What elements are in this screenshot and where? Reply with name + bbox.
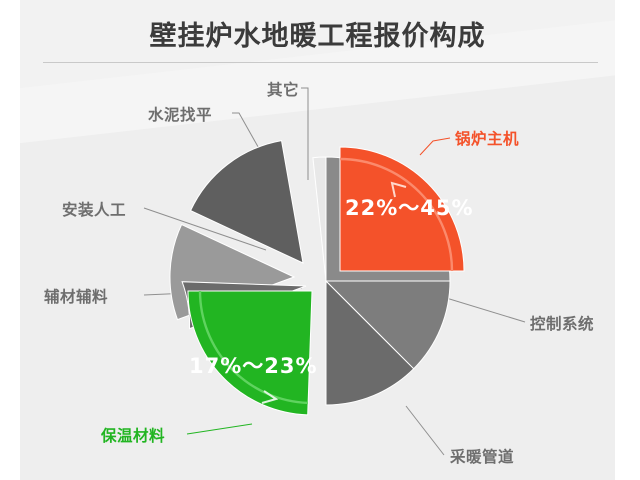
value-insulation-material-percent: 17%～23%	[189, 350, 318, 380]
label-other[interactable]: 其它	[267, 78, 299, 100]
leader-pipe	[406, 406, 444, 455]
leader-other	[301, 88, 308, 180]
slice-other[interactable]	[313, 157, 326, 281]
leader-control	[443, 297, 525, 322]
label-heating-pipe[interactable]: 采暖管道	[450, 445, 514, 467]
label-auxiliary-materials[interactable]: 辅材辅料	[44, 285, 108, 307]
leader-insulation	[187, 424, 252, 434]
label-cement-leveling[interactable]: 水泥找平	[148, 103, 212, 125]
label-control-system[interactable]: 控制系统	[530, 312, 594, 334]
value-boiler-unit-percent: 22%～45%	[345, 192, 474, 222]
chart-canvas: 壁挂炉水地暖工程报价构成	[20, 0, 615, 480]
leader-boiler	[420, 138, 450, 155]
infographic-root: 壁挂炉水地暖工程报价构成	[0, 0, 640, 480]
pie-chart	[20, 0, 615, 480]
label-insulation-material[interactable]: 保温材料	[101, 424, 165, 446]
label-installation-labor[interactable]: 安装人工	[62, 198, 126, 220]
label-boiler-unit[interactable]: 锅炉主机	[455, 127, 519, 149]
